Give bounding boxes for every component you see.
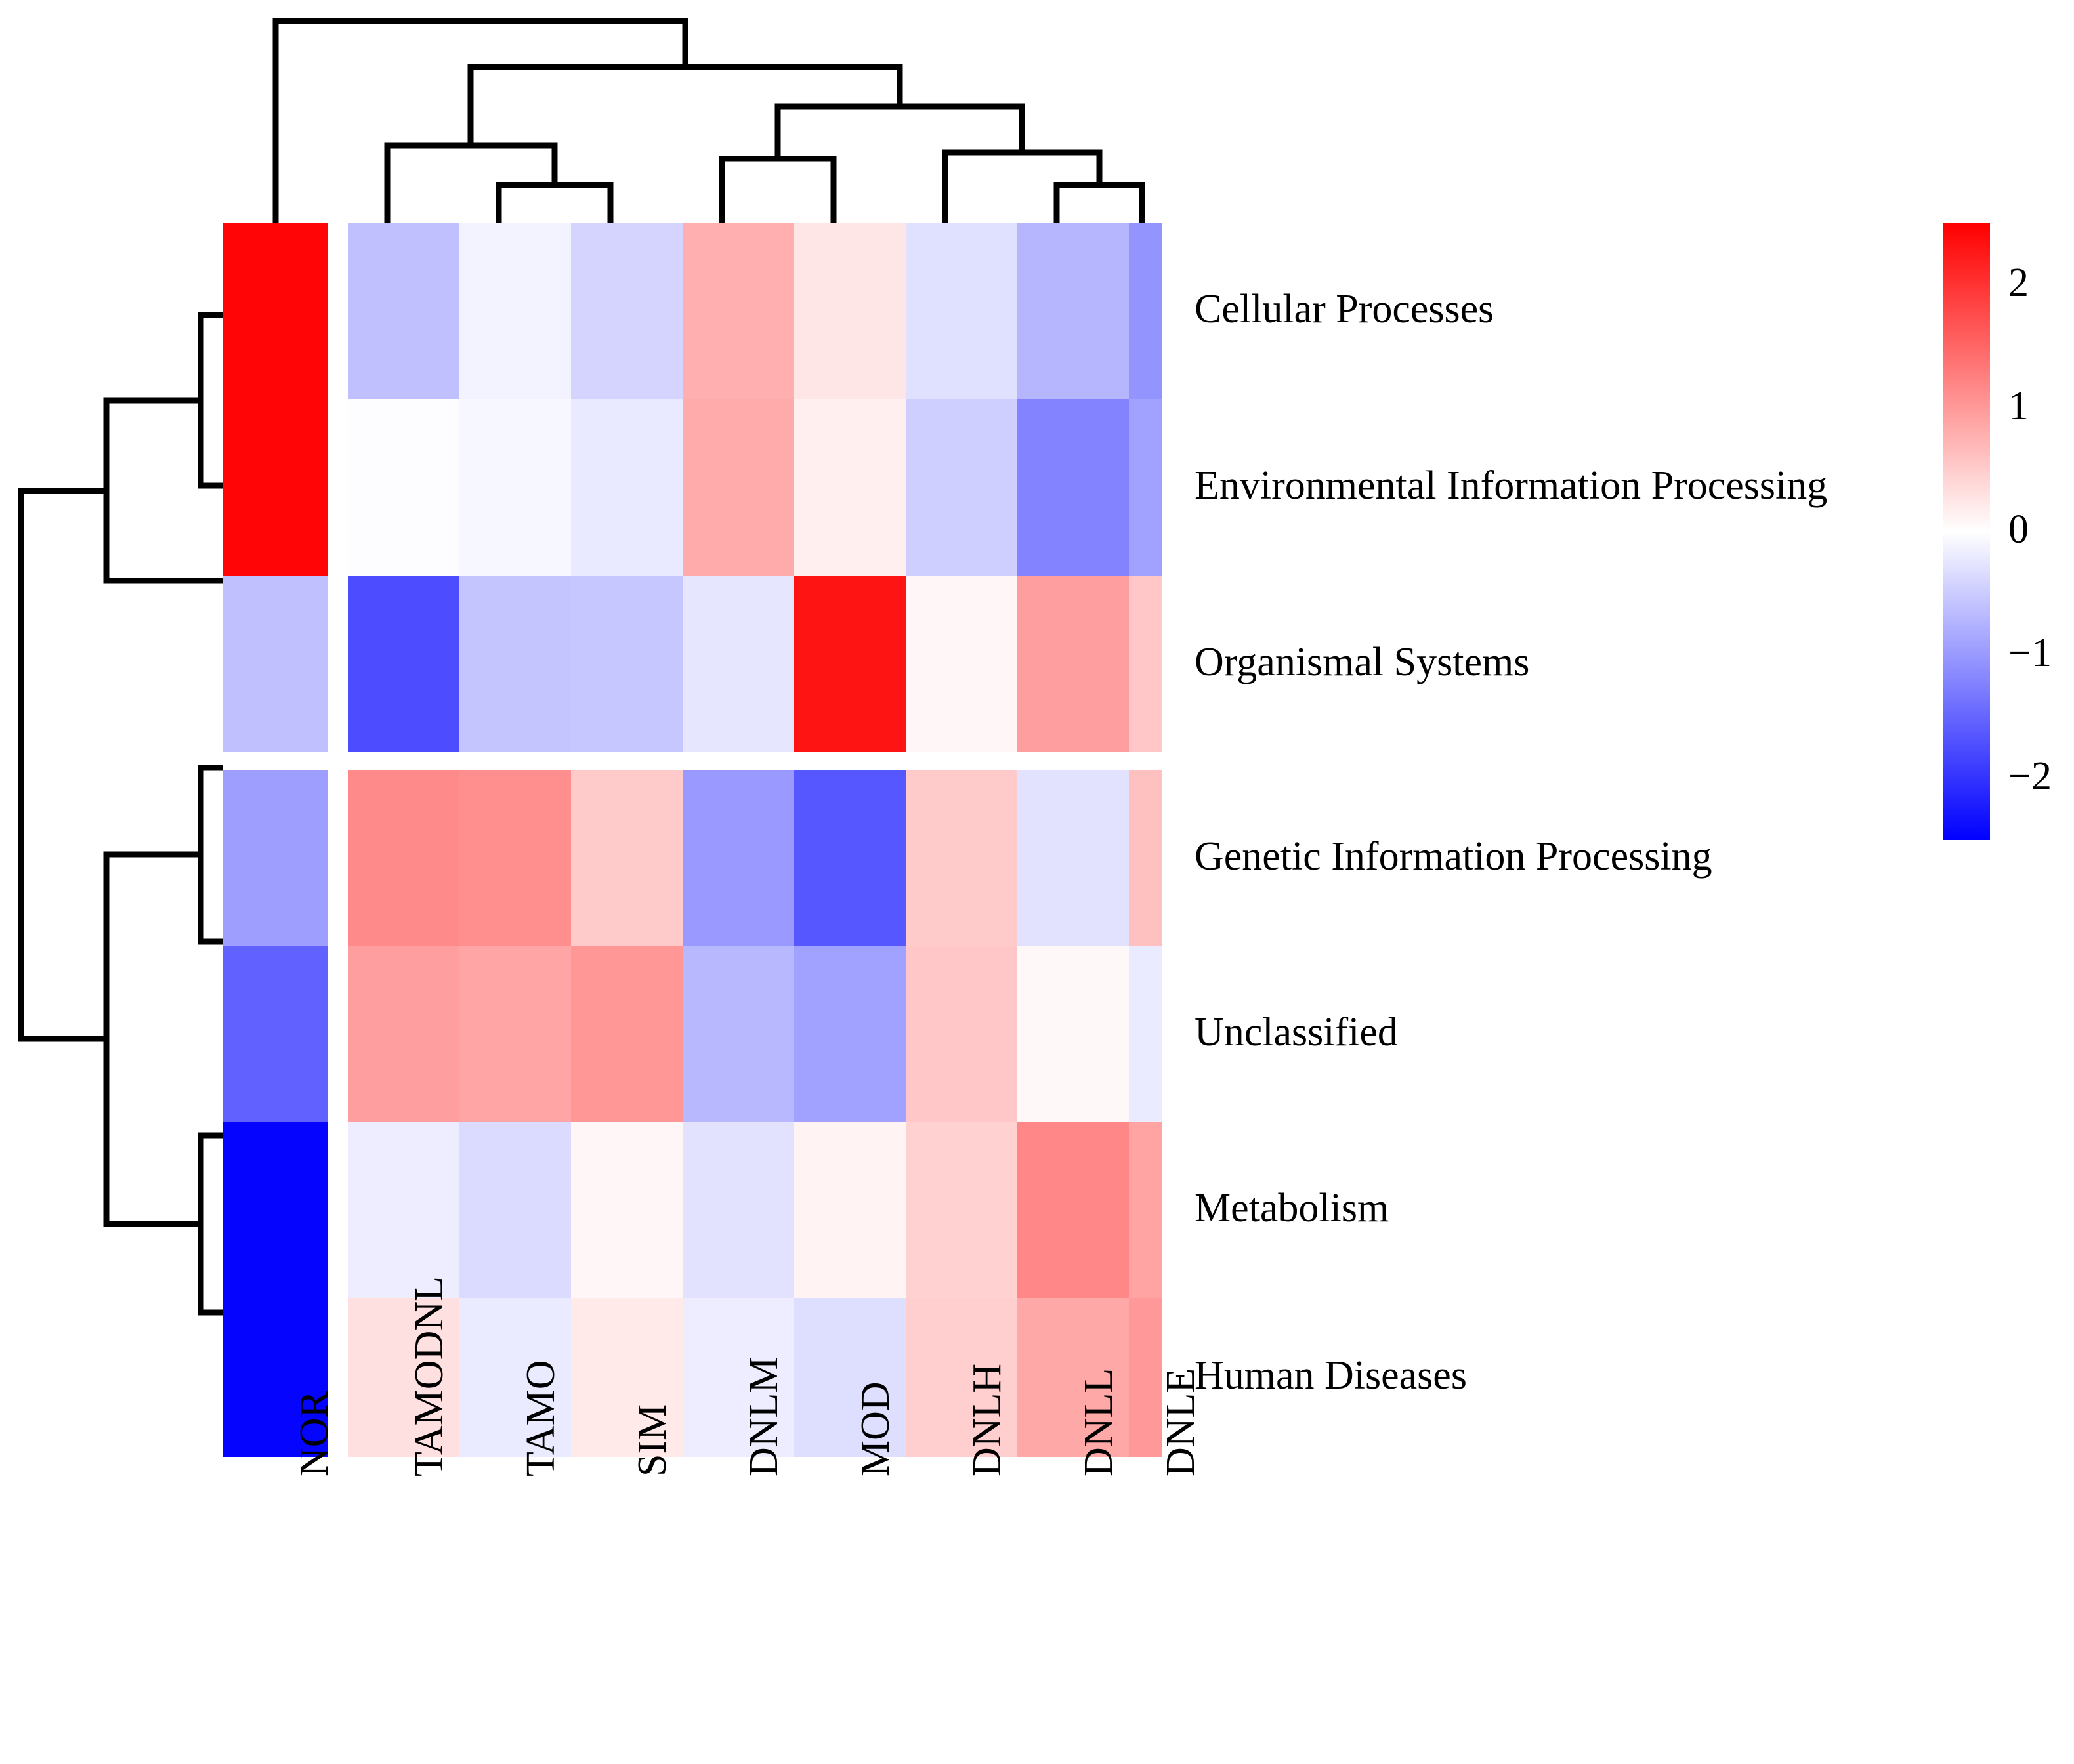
row-link-n3-n4 [106, 854, 201, 1224]
heatmap-cell [1129, 399, 1162, 576]
heatmap-cell [571, 223, 683, 399]
heatmap-cell [1129, 770, 1162, 946]
heatmap-cell [794, 946, 906, 1122]
heatmap-cell [906, 223, 1017, 399]
heatmap-cell [459, 946, 571, 1122]
heatmap-cell [571, 576, 683, 752]
heatmap-cell [571, 770, 683, 946]
heatmap-cell [223, 576, 328, 752]
heatmap-cell [223, 399, 328, 576]
row-label: Human Diseases [1195, 1355, 1467, 1396]
heatmap-cell [1017, 946, 1129, 1122]
heatmap-cell [348, 399, 459, 576]
col-link-dnlm-mod [722, 159, 834, 223]
column-dendrogram [223, 7, 1162, 223]
heatmap-cell [223, 1122, 328, 1298]
heatmap-cell [1017, 1122, 1129, 1298]
heatmap-cell [906, 576, 1017, 752]
heatmap-cell [1017, 576, 1129, 752]
column-label: DNLM [744, 1356, 784, 1477]
heatmap-grid [223, 223, 1162, 1457]
row-link-cell-env [201, 315, 223, 486]
heatmap-cell [1017, 399, 1129, 576]
col-link-nor-g [276, 21, 685, 223]
heatmap-cell [683, 223, 794, 399]
heatmap-cell [459, 576, 571, 752]
colorbar[interactable]: 210−1−2 [1943, 223, 2067, 840]
heatmap-cell [1017, 770, 1129, 946]
heatmap-cell [223, 223, 328, 399]
col-link-tamo-sim [499, 185, 610, 223]
heatmap-cell [571, 946, 683, 1122]
heatmap-cell [794, 223, 906, 399]
column-label: DNLE [1160, 1368, 1201, 1477]
colorbar-tick-label: −2 [2008, 756, 2052, 797]
heatmap-cell [459, 223, 571, 399]
heatmap-cell [348, 223, 459, 399]
heatmap-cell [459, 1122, 571, 1298]
colorbar-gradient [1943, 223, 1990, 840]
heatmap-cell [1129, 946, 1162, 1122]
heatmap-cell [683, 399, 794, 576]
heatmap-cell [1017, 223, 1129, 399]
row-label: Genetic Information Processing [1195, 836, 1712, 877]
heatmap-cell [683, 576, 794, 752]
column-label: MOD [855, 1381, 896, 1477]
heatmap-cell [906, 946, 1017, 1122]
heatmap-cell [1129, 223, 1162, 399]
heatmap-cell [348, 576, 459, 752]
row-link-n2-n5 [21, 491, 106, 1039]
heatmap-cell [794, 576, 906, 752]
heatmap-cell [683, 946, 794, 1122]
column-label: TAMO [520, 1360, 561, 1477]
row-label: Environmental Information Processing [1195, 465, 1827, 506]
row-link-met-hum [201, 1135, 223, 1312]
colorbar-tick-label: 2 [2008, 262, 2029, 303]
column-dendrogram-svg [223, 7, 1162, 223]
colorbar-tick-label: 0 [2008, 509, 2029, 550]
row-label: Cellular Processes [1195, 289, 1494, 329]
column-label: NOR [294, 1391, 335, 1477]
row-link-n1-organismal [106, 400, 223, 581]
heatmap-cell [348, 770, 459, 946]
heatmap-cell [1129, 1298, 1162, 1457]
row-label: Metabolism [1195, 1188, 1389, 1228]
row-dendrogram-svg [7, 223, 223, 1457]
heatmap-cell [906, 399, 1017, 576]
heatmap-cell [459, 770, 571, 946]
column-label: DNLL [1078, 1368, 1119, 1477]
heatmap-cell [459, 399, 571, 576]
heatmap-cell [906, 770, 1017, 946]
heatmap-cell [1129, 1122, 1162, 1298]
colorbar-tick-label: 1 [2008, 386, 2029, 427]
heatmap-cell [571, 399, 683, 576]
heatmap-cell [794, 770, 906, 946]
colorbar-tick-label: −1 [2008, 633, 2052, 673]
row-link-gen-unc [201, 768, 223, 942]
heatmap-cell [906, 1122, 1017, 1298]
heatmap-cell [683, 770, 794, 946]
row-dendrogram [7, 223, 223, 1457]
heatmap-cell [223, 946, 328, 1122]
column-label: SIM [632, 1404, 673, 1477]
heatmap-cell [794, 1122, 906, 1298]
column-label: TAMODNL [409, 1276, 450, 1477]
column-label: DNLH [967, 1364, 1007, 1477]
heatmap-cell [571, 1122, 683, 1298]
row-label: Organismal Systems [1195, 642, 1529, 682]
col-link-dnll-dnle [1057, 185, 1142, 223]
figure-canvas: Cellular ProcessesEnvironmental Informat… [0, 0, 2074, 1764]
heatmap-cell [683, 1122, 794, 1298]
row-label: Unclassified [1195, 1012, 1398, 1053]
heatmap-cell [794, 399, 906, 576]
heatmap-cell [223, 770, 328, 946]
heatmap-cell [348, 946, 459, 1122]
heatmap-cell [348, 1122, 459, 1298]
heatmap-cell [1129, 576, 1162, 752]
